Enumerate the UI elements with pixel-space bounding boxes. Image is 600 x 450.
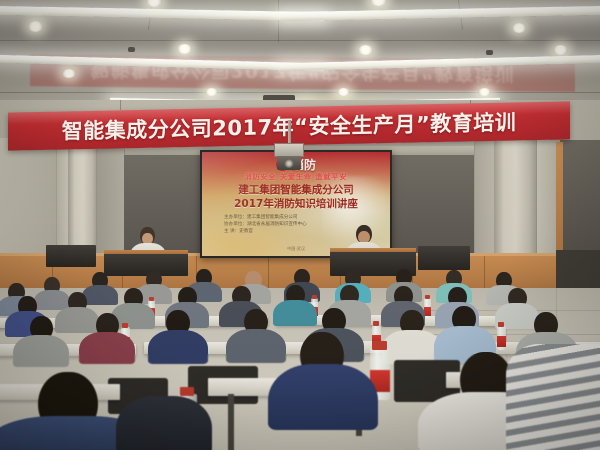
- ceiling: 智能集成分公司2017年“安全生产月”教育培训: [0, 0, 600, 108]
- ceiling-light-strip: [280, 6, 600, 21]
- foreground-attendee-body: [116, 396, 212, 450]
- bottle-cap-icon: [498, 322, 504, 327]
- projector-mount: [274, 143, 304, 157]
- bottle-cap-icon: [373, 321, 379, 326]
- audience-body: [82, 285, 118, 305]
- audience-body: [226, 329, 286, 363]
- photograph-scene: 智能集成分公司2017年“安全生产月”教育培训: [0, 0, 600, 450]
- bottle-cap-icon: [122, 323, 128, 328]
- audience-body: [34, 290, 70, 310]
- ceiling-downlight: [478, 88, 491, 96]
- projector-lens-icon: [284, 159, 294, 168]
- audience-body: [79, 332, 135, 364]
- slide-title: 建工集团智能集成分公司 2017年消防知识培训讲座: [202, 183, 390, 211]
- ceiling-downlight: [358, 45, 373, 55]
- ceiling-downlight: [205, 88, 218, 96]
- ceiling-light-strip: [0, 6, 324, 21]
- audience-body: [13, 335, 69, 367]
- ceiling-downlight: [146, 0, 162, 7]
- ceiling-downlight: [337, 88, 350, 96]
- slide-title-line1: 建工集团智能集成分公司: [202, 183, 390, 197]
- slide-detail-line: 协办单位：湖北省永居消防知识宣传中心: [224, 221, 378, 228]
- presenter-left-table-edge: [104, 250, 188, 254]
- av-equipment-right: [418, 246, 470, 270]
- bottle-cap-icon: [425, 295, 430, 299]
- audience-body: [273, 300, 317, 326]
- bottle-cap-icon: [372, 341, 387, 350]
- slide-detail-lines: 主办单位：建工集团智能集成分公司 协办单位：湖北省永居消防知识宣传中心 主 讲：…: [224, 214, 378, 235]
- ceiling-sprinkler: [486, 50, 493, 55]
- presenter-left-table: [104, 252, 188, 276]
- audience-body: [55, 307, 99, 333]
- presenter-right-table-edge: [330, 248, 416, 252]
- desk-leg: [228, 394, 234, 450]
- foreground-attendee-body: [268, 364, 378, 430]
- bottle-label: [424, 307, 431, 316]
- bottle-cap-icon: [312, 295, 317, 299]
- av-equipment-left: [46, 245, 96, 267]
- slide-detail-line: 主办单位：建工集团智能集成分公司: [224, 214, 378, 221]
- ceiling-downlight: [28, 21, 43, 32]
- audience-body: [382, 330, 442, 364]
- slide-title-line2: 2017年消防知识培训讲座: [202, 197, 390, 211]
- bottle-label: [497, 336, 506, 347]
- slide-detail-line: 主 讲：史教官: [224, 228, 378, 235]
- ceiling-sprinkler: [128, 47, 135, 52]
- audience-body: [148, 330, 208, 364]
- ceiling-downlight: [553, 45, 568, 55]
- slide-subtitle: 消防安全 关爱生命 造就平安: [202, 172, 390, 182]
- ceiling-downlight: [62, 69, 76, 78]
- projector-pole: [288, 120, 291, 144]
- ceiling-downlight: [512, 23, 526, 33]
- bottle-cap-icon: [180, 387, 194, 396]
- banner-string: [120, 100, 121, 110]
- ceiling-downlight: [177, 44, 192, 54]
- ceiling-downlight: [370, 0, 387, 6]
- bottle-cap-icon: [149, 297, 154, 301]
- foreground-attendee-body-striped: [506, 344, 600, 450]
